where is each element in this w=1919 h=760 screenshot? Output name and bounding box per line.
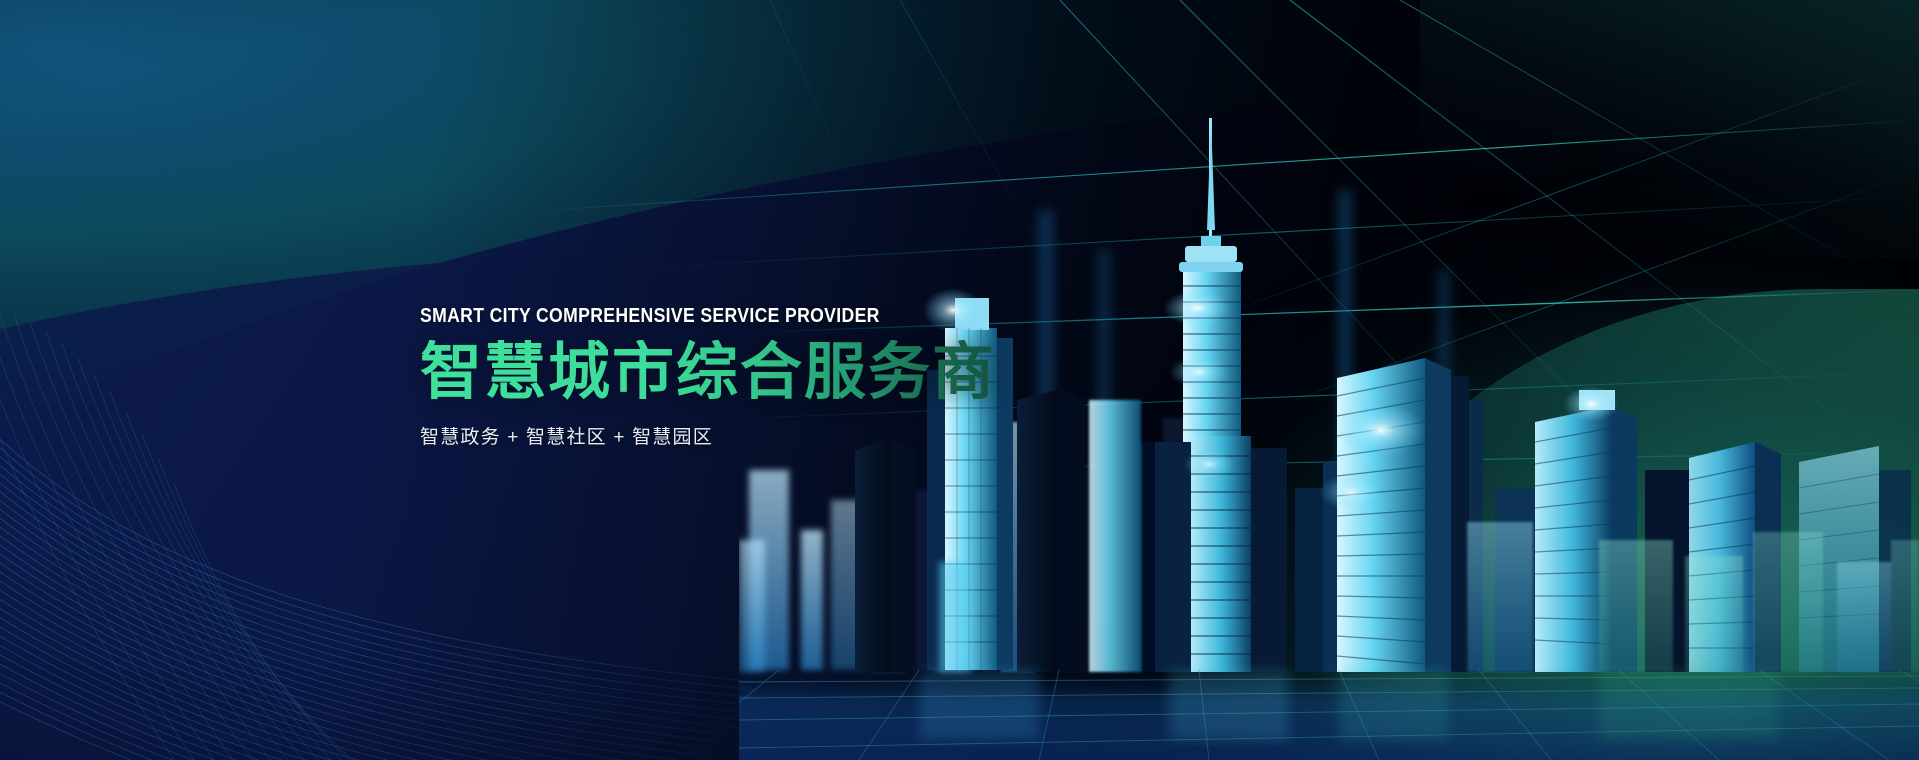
- hero-banner: SMART CITY COMPREHENSIVE SERVICE PROVIDE…: [0, 0, 1919, 760]
- hero-subtitle: 智慧政务 + 智慧社区 + 智慧园区: [420, 422, 996, 449]
- page-title: 智慧城市综合服务商: [420, 340, 996, 406]
- hero-copy-block: SMART CITY COMPREHENSIVE SERVICE PROVIDE…: [420, 305, 996, 449]
- hero-eyebrow: SMART CITY COMPREHENSIVE SERVICE PROVIDE…: [420, 305, 927, 328]
